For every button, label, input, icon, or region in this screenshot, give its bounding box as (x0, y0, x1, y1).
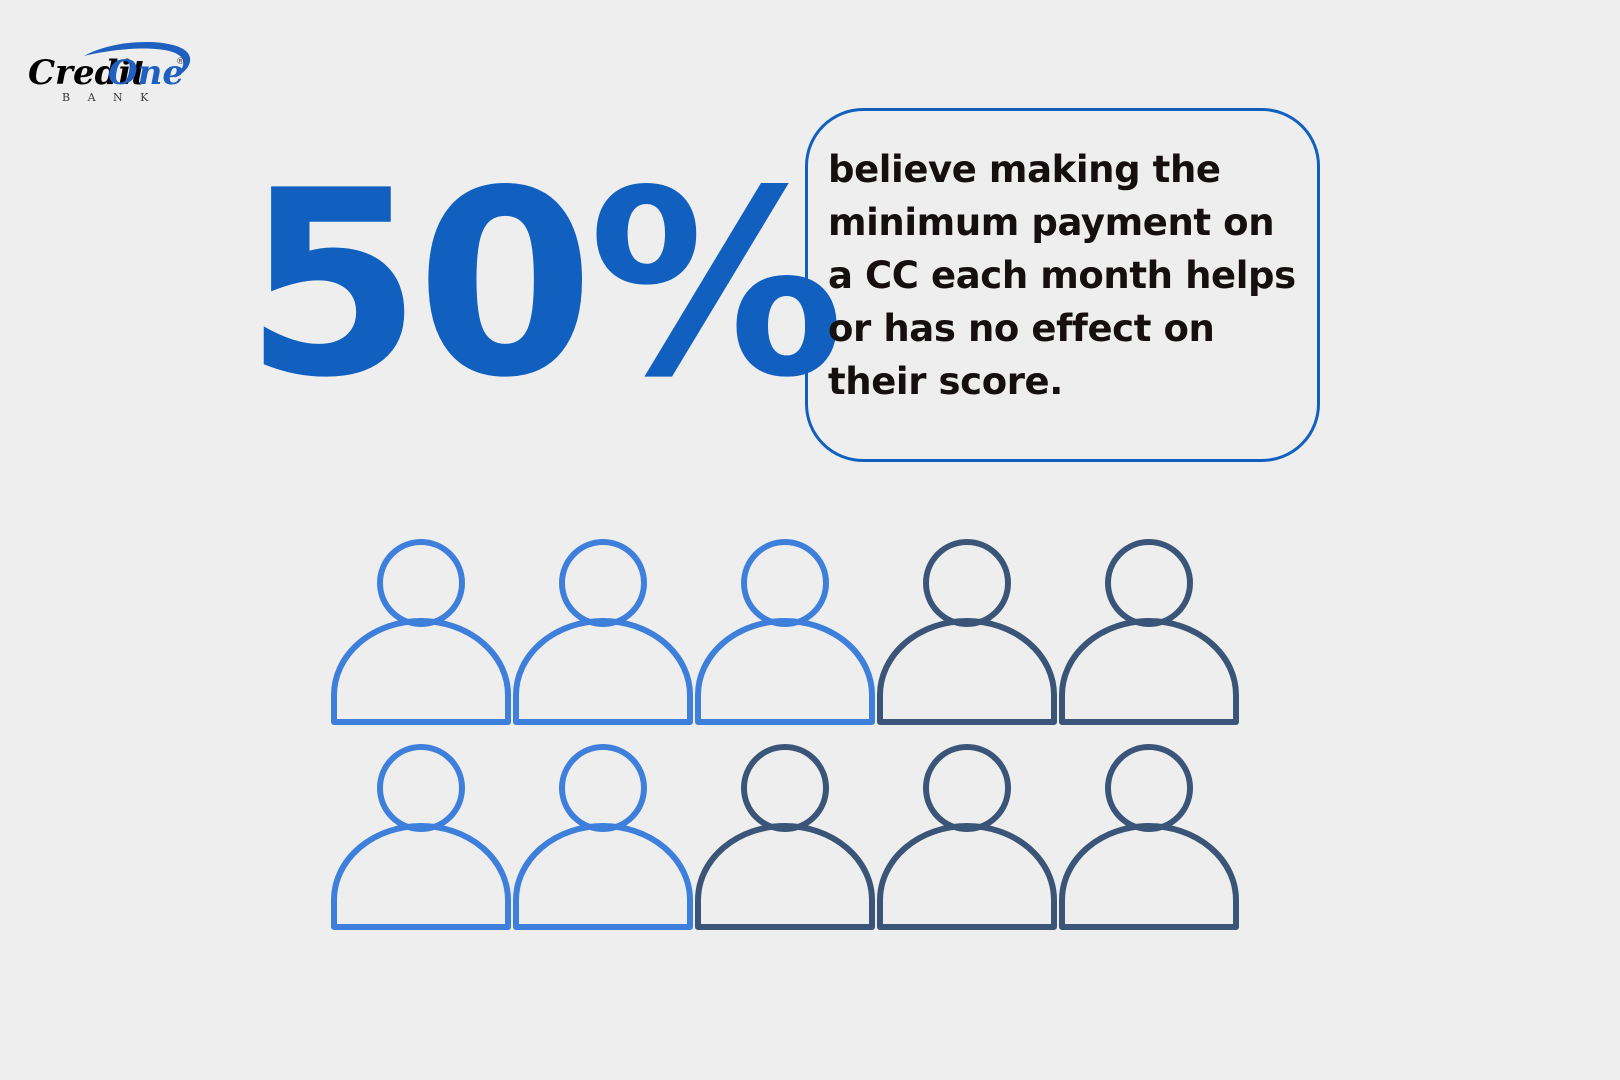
person-head-icon (1108, 542, 1190, 624)
person-glyph (330, 535, 512, 725)
person-icon (330, 535, 512, 725)
person-body-icon (698, 621, 872, 722)
person-glyph (512, 740, 694, 930)
person-head-icon (380, 542, 462, 624)
person-icon (1058, 535, 1240, 725)
person-glyph (876, 740, 1058, 930)
pictogram-row-2 (330, 740, 1240, 930)
person-head-icon (744, 542, 826, 624)
person-body-icon (1062, 621, 1236, 722)
person-icon (330, 740, 512, 930)
person-glyph (694, 740, 876, 930)
person-icon (876, 535, 1058, 725)
callout-line: or has no effect on (828, 302, 1299, 355)
person-head-icon (1108, 747, 1190, 829)
person-body-icon (516, 826, 690, 927)
person-head-icon (744, 747, 826, 829)
person-glyph (512, 535, 694, 725)
logo-artwork: Credit One ® B A N K (24, 36, 224, 108)
callout-bubble: believe making the minimum payment on a … (805, 108, 1320, 462)
person-icon (512, 740, 694, 930)
person-glyph (1058, 740, 1240, 930)
person-body-icon (334, 621, 508, 722)
person-head-icon (380, 747, 462, 829)
person-glyph (876, 535, 1058, 725)
callout-text: believe making the minimum payment on a … (828, 143, 1299, 408)
person-glyph (330, 740, 512, 930)
person-icon (694, 535, 876, 725)
person-head-icon (562, 747, 644, 829)
logo-word-one: One (108, 53, 184, 93)
person-head-icon (562, 542, 644, 624)
stat-percentage: 50% (244, 160, 784, 410)
logo-subtitle-bank: B A N K (62, 91, 155, 104)
callout-line: minimum payment on (828, 196, 1299, 249)
infographic-canvas: Credit One ® B A N K 50% believe making … (0, 0, 1620, 1080)
person-icon (1058, 740, 1240, 930)
callout-line: a CC each month helps (828, 249, 1299, 302)
pictogram-row-1 (330, 535, 1240, 725)
credit-one-bank-logo: Credit One ® B A N K (24, 36, 224, 108)
person-glyph (1058, 535, 1240, 725)
person-head-icon (926, 542, 1008, 624)
person-body-icon (334, 826, 508, 927)
person-body-icon (698, 826, 872, 927)
callout-line: believe making the (828, 143, 1299, 196)
person-head-icon (926, 747, 1008, 829)
person-icon (876, 740, 1058, 930)
person-icon (694, 740, 876, 930)
person-body-icon (880, 826, 1054, 927)
person-glyph (694, 535, 876, 725)
registered-trademark-icon: ® (176, 57, 185, 67)
callout-line: their score. (828, 355, 1299, 408)
person-body-icon (1062, 826, 1236, 927)
person-body-icon (880, 621, 1054, 722)
person-icon (512, 535, 694, 725)
person-body-icon (516, 621, 690, 722)
pictogram-people-grid (330, 535, 1240, 925)
